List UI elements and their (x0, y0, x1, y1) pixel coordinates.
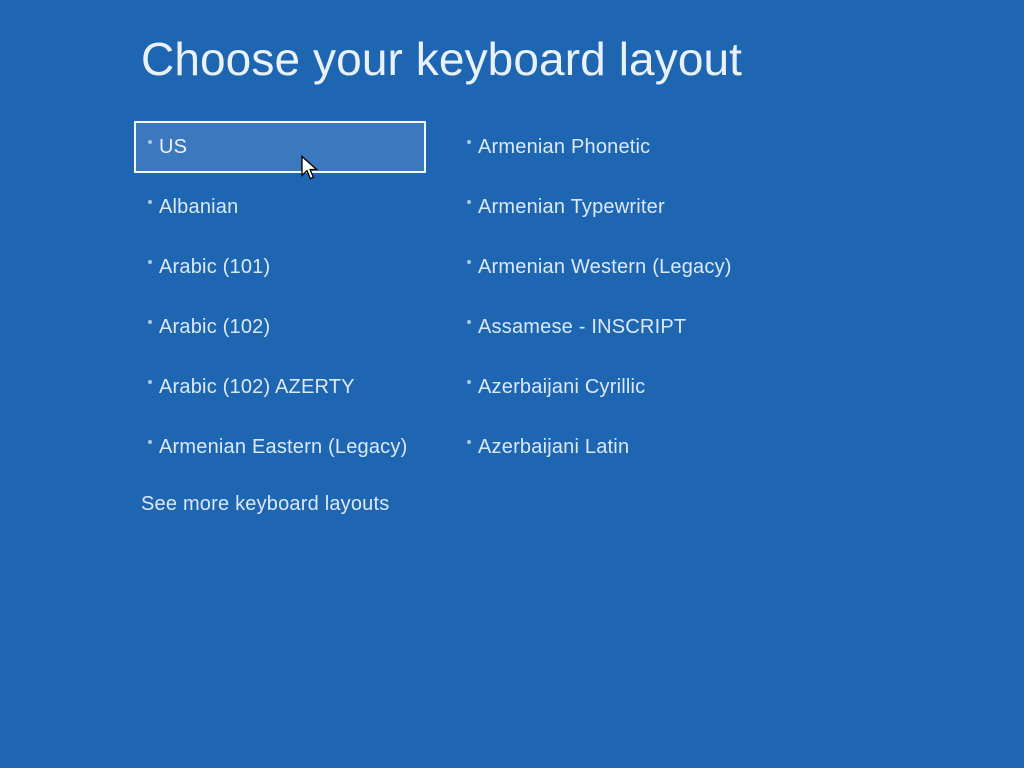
keyboard-layout-option[interactable]: Assamese - INSCRIPT (455, 301, 785, 353)
bullet-icon (467, 320, 471, 324)
keyboard-layout-option[interactable]: Arabic (102) AZERTY (134, 361, 426, 413)
keyboard-layout-option[interactable]: Albanian (134, 181, 426, 233)
bullet-icon (467, 440, 471, 444)
bullet-icon (148, 440, 152, 444)
keyboard-layout-option[interactable]: Azerbaijani Latin (455, 421, 785, 473)
bullet-icon (148, 200, 152, 204)
keyboard-layout-option[interactable]: Armenian Phonetic (455, 121, 785, 173)
keyboard-layout-option-label: Armenian Typewriter (478, 196, 665, 219)
bullet-icon (148, 140, 152, 144)
keyboard-layout-option-label: Arabic (102) (159, 316, 270, 339)
bullet-icon (467, 200, 471, 204)
keyboard-layout-option-label: Azerbaijani Latin (478, 436, 629, 459)
bullet-icon (467, 140, 471, 144)
keyboard-layout-option-label: Arabic (102) AZERTY (159, 376, 355, 399)
keyboard-layout-option[interactable]: US (134, 121, 426, 173)
keyboard-layout-option[interactable]: Armenian Typewriter (455, 181, 785, 233)
keyboard-layout-option-label: Albanian (159, 196, 238, 219)
keyboard-layout-option[interactable]: Arabic (101) (134, 241, 426, 293)
keyboard-layout-screen: Choose your keyboard layout USAlbanianAr… (0, 0, 1024, 768)
keyboard-layout-option-label: Assamese - INSCRIPT (478, 316, 686, 339)
keyboard-layout-option-label: US (159, 136, 187, 159)
bullet-icon (467, 260, 471, 264)
bullet-icon (148, 260, 152, 264)
layout-list-right-column: Armenian PhoneticArmenian TypewriterArme… (455, 121, 785, 481)
bullet-icon (148, 380, 152, 384)
keyboard-layout-option[interactable]: Armenian Eastern (Legacy) (134, 421, 426, 473)
layout-list-left-column: USAlbanianArabic (101)Arabic (102)Arabic… (134, 121, 426, 481)
keyboard-layout-option[interactable]: Armenian Western (Legacy) (455, 241, 785, 293)
bullet-icon (148, 320, 152, 324)
keyboard-layout-option[interactable]: Azerbaijani Cyrillic (455, 361, 785, 413)
keyboard-layout-option[interactable]: Arabic (102) (134, 301, 426, 353)
keyboard-layout-option-label: Armenian Eastern (Legacy) (159, 436, 407, 459)
see-more-keyboard-layouts-link[interactable]: See more keyboard layouts (141, 493, 389, 516)
keyboard-layout-option-label: Armenian Western (Legacy) (478, 256, 732, 279)
page-title: Choose your keyboard layout (141, 36, 742, 82)
keyboard-layout-option-label: Arabic (101) (159, 256, 270, 279)
keyboard-layout-option-label: Azerbaijani Cyrillic (478, 376, 645, 399)
bullet-icon (467, 380, 471, 384)
keyboard-layout-option-label: Armenian Phonetic (478, 136, 650, 159)
